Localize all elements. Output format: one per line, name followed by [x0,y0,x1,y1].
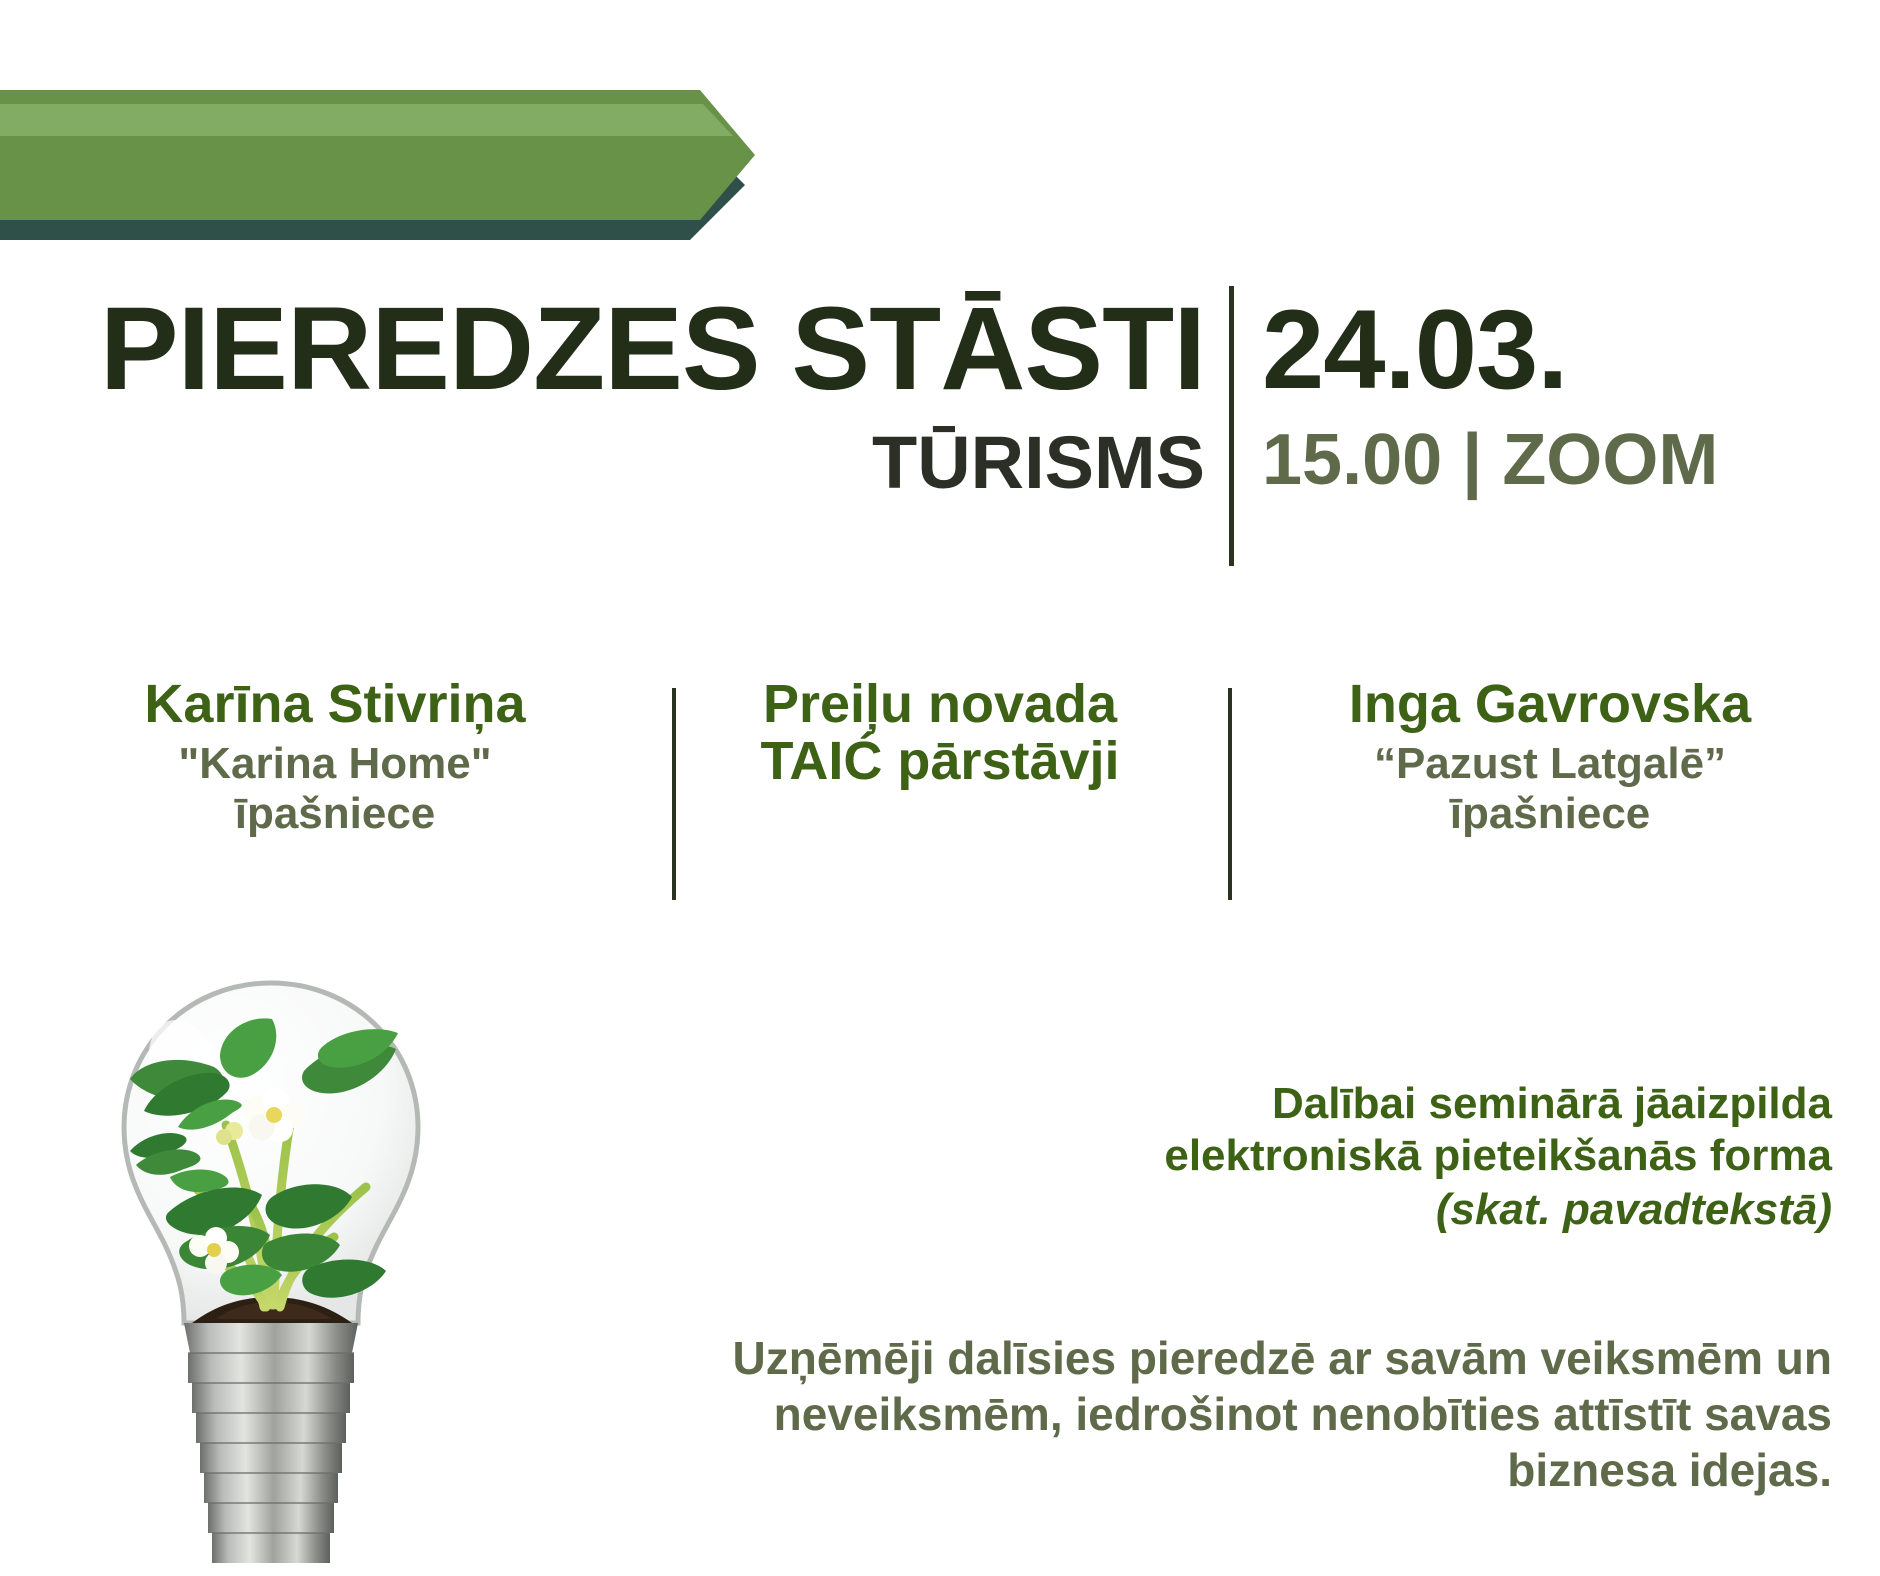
speaker-role-line1-3: “Pazust Latgalē” [1374,739,1726,788]
speaker-role-line1-1: "Karina Home" [178,739,491,788]
header-left: PIEREDZES STĀSTI TŪRISMS [0,272,1205,500]
event-date: 24.03. [1262,294,1880,406]
bulb-base-thread-5 [204,1473,338,1503]
event-time-platform: 15.00 | ZOOM [1262,424,1880,496]
lightbulb-with-strawberry-plant-icon [66,975,476,1576]
bulb-base-thread-6 [208,1503,334,1533]
speaker-card-3: Inga Gavrovska “Pazust Latgalē” īpašniec… [1220,676,1880,838]
header-right: 24.03. 15.00 | ZOOM [1262,272,1880,496]
bulb-base-thread-4 [200,1443,342,1473]
speaker-divider-2 [1228,688,1232,900]
registration-line-2: elektroniskā pieteikšanās forma [972,1130,1832,1182]
speaker-role-line2-3: īpašniece [1450,789,1651,838]
header-vertical-divider [1229,286,1234,566]
page-subtitle: TŪRISMS [0,426,1205,500]
speaker-role-3: “Pazust Latgalē” īpašniece [1250,739,1850,838]
speaker-card-2: Preiļu novada TAIĆ pārstāvji [660,676,1220,790]
speaker-divider-1 [672,688,676,900]
speaker-name-2: Preiļu novada TAIĆ pārstāvji [686,676,1194,790]
description-line-3: biznesa idejas. [442,1442,1832,1498]
bulb-base-thread-7 [212,1533,330,1563]
bulb-base-thread-1 [188,1353,354,1383]
speaker-name-1: Karīna Stivriņa [40,676,630,733]
speaker-name-line1-2: Preiļu novada [763,674,1117,734]
speaker-role-line2-1: īpašniece [235,789,436,838]
bulb-base-thread-3 [196,1413,346,1443]
bulb-base-thread-2 [192,1383,350,1413]
speakers-section: Karīna Stivriņa "Karina Home" īpašniece … [0,676,1880,916]
registration-notice: Dalībai seminārā jāaizpilda elektroniskā… [972,1078,1832,1236]
registration-note: (skat. pavadtekstā) [972,1184,1832,1236]
speaker-name-line2-2: TAIĆ pārstāvji [760,731,1119,791]
decorative-arrow-banner [0,0,1000,270]
poster-canvas: PIEREDZES STĀSTI TŪRISMS 24.03. 15.00 | … [0,0,1880,1576]
speaker-role-1: "Karina Home" īpašniece [40,739,630,838]
banner-arrow-lightgreen [0,104,733,136]
description-line-2: neveiksmēm, iedrošinot nenobīties attīst… [442,1386,1832,1442]
description-line-1: Uzņēmēji dalīsies pieredzē ar savām veik… [442,1330,1832,1386]
registration-line-1: Dalībai seminārā jāaizpilda [972,1078,1832,1130]
header-block: PIEREDZES STĀSTI TŪRISMS 24.03. 15.00 | … [0,272,1880,572]
bulb-base-collar [184,1323,358,1353]
page-title: PIEREDZES STĀSTI [0,290,1205,408]
speaker-card-1: Karīna Stivriņa "Karina Home" īpašniece [0,676,660,838]
speaker-name-3: Inga Gavrovska [1250,676,1850,733]
description-block: Uzņēmēji dalīsies pieredzē ar savām veik… [442,1330,1832,1498]
